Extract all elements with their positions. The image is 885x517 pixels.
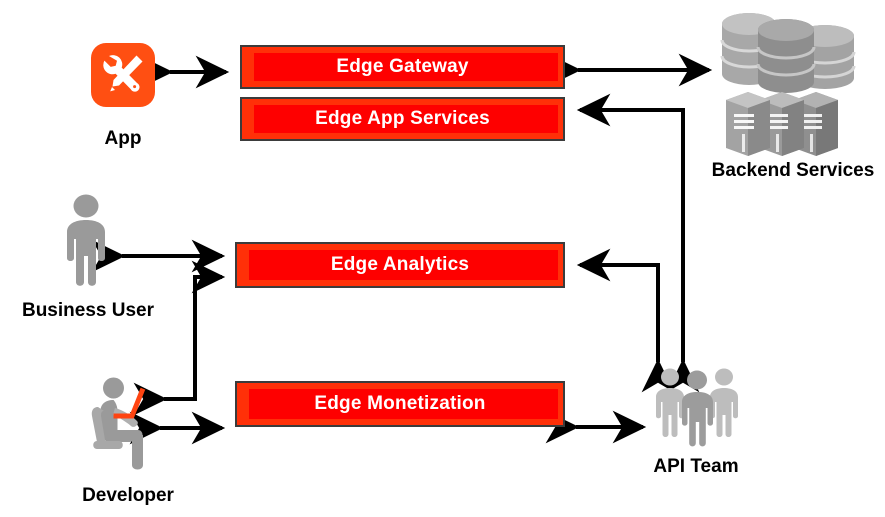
service-bar-edge-gateway[interactable]: Edge Gateway — [240, 45, 565, 89]
diagram-canvas: Edge Gateway Edge App Services Edge Anal… — [0, 0, 885, 517]
backend-services-icon-wrap[interactable] — [714, 6, 859, 156]
connector-developer-to-analytics — [164, 277, 222, 399]
service-bar-label: Edge App Services — [242, 108, 563, 130]
connector-analytics-to-api-team — [580, 265, 658, 362]
business-user-label: Business User — [8, 300, 168, 322]
people-group-icon — [648, 367, 746, 449]
app-label: App — [92, 128, 154, 150]
developer-label: Developer — [68, 485, 188, 507]
service-bar-label: Edge Gateway — [242, 56, 563, 78]
app-icon-wrap[interactable] — [88, 40, 158, 110]
connector-app-services-return — [580, 110, 683, 362]
service-bar-edge-monetization[interactable]: Edge Monetization — [235, 381, 565, 427]
service-bar-label: Edge Analytics — [237, 254, 563, 276]
service-bar-label: Edge Monetization — [237, 393, 563, 415]
app-tools-icon — [88, 40, 158, 110]
api-team-icon-wrap[interactable] — [648, 367, 746, 449]
developer-icon-wrap[interactable] — [88, 375, 170, 473]
business-user-icon-wrap[interactable] — [52, 193, 120, 296]
person-standing-icon — [52, 193, 120, 296]
service-bar-edge-analytics[interactable]: Edge Analytics — [235, 242, 565, 288]
service-bar-edge-app-services[interactable]: Edge App Services — [240, 97, 565, 141]
database-server-icon — [714, 6, 859, 156]
person-seated-icon — [88, 375, 170, 473]
backend-services-label: Backend Services — [698, 160, 885, 182]
api-team-label: API Team — [636, 456, 756, 478]
